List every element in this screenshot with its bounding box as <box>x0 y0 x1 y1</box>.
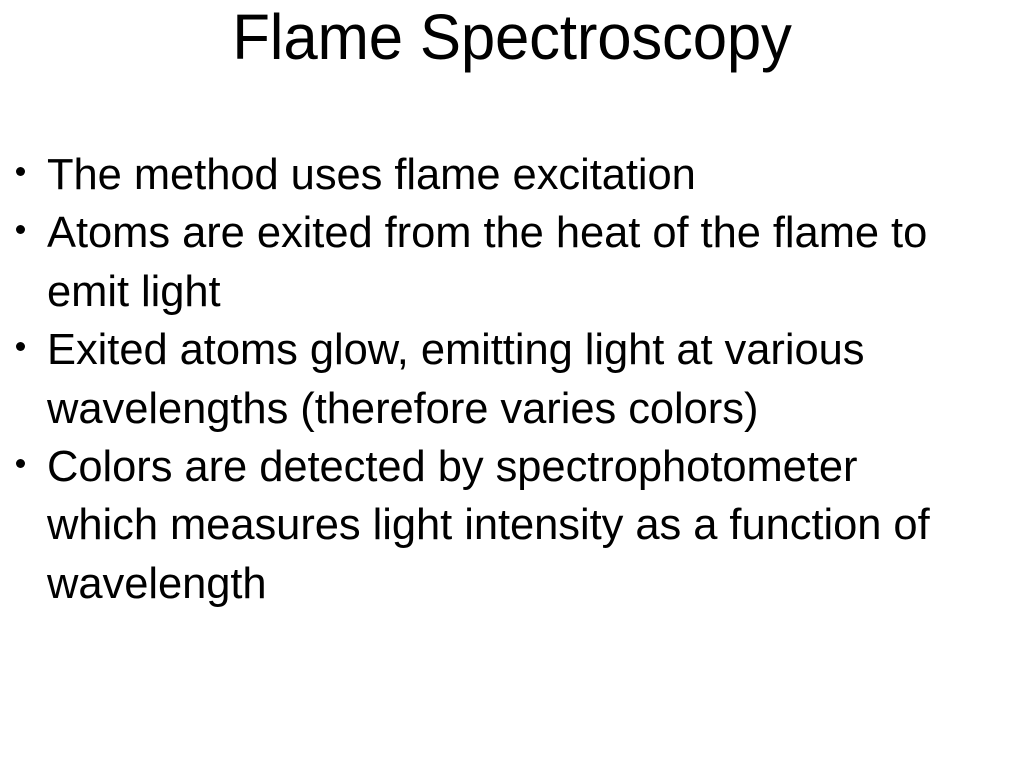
list-item: Atoms are exited from the heat of the fl… <box>13 204 943 321</box>
list-item: Exited atoms glow, emitting light at var… <box>13 321 943 438</box>
bullet-list: The method uses flame excitation Atoms a… <box>13 146 943 613</box>
bullet-dot-icon <box>16 146 38 204</box>
list-item-text: The method uses flame excitation <box>47 146 943 204</box>
list-item-text: Atoms are exited from the heat of the fl… <box>47 204 943 321</box>
list-item-text: Exited atoms glow, emitting light at var… <box>47 321 943 438</box>
presentation-slide: Flame Spectroscopy The method uses flame… <box>0 0 1024 768</box>
bullet-dot-icon <box>16 321 38 379</box>
list-item: Colors are detected by spectrophotometer… <box>13 438 943 613</box>
list-item-text: Colors are detected by spectrophotometer… <box>47 438 943 613</box>
slide-title: Flame Spectroscopy <box>18 4 1006 72</box>
bullet-dot-icon <box>16 204 38 262</box>
list-item: The method uses flame excitation <box>13 146 943 204</box>
bullet-dot-icon <box>16 438 38 496</box>
